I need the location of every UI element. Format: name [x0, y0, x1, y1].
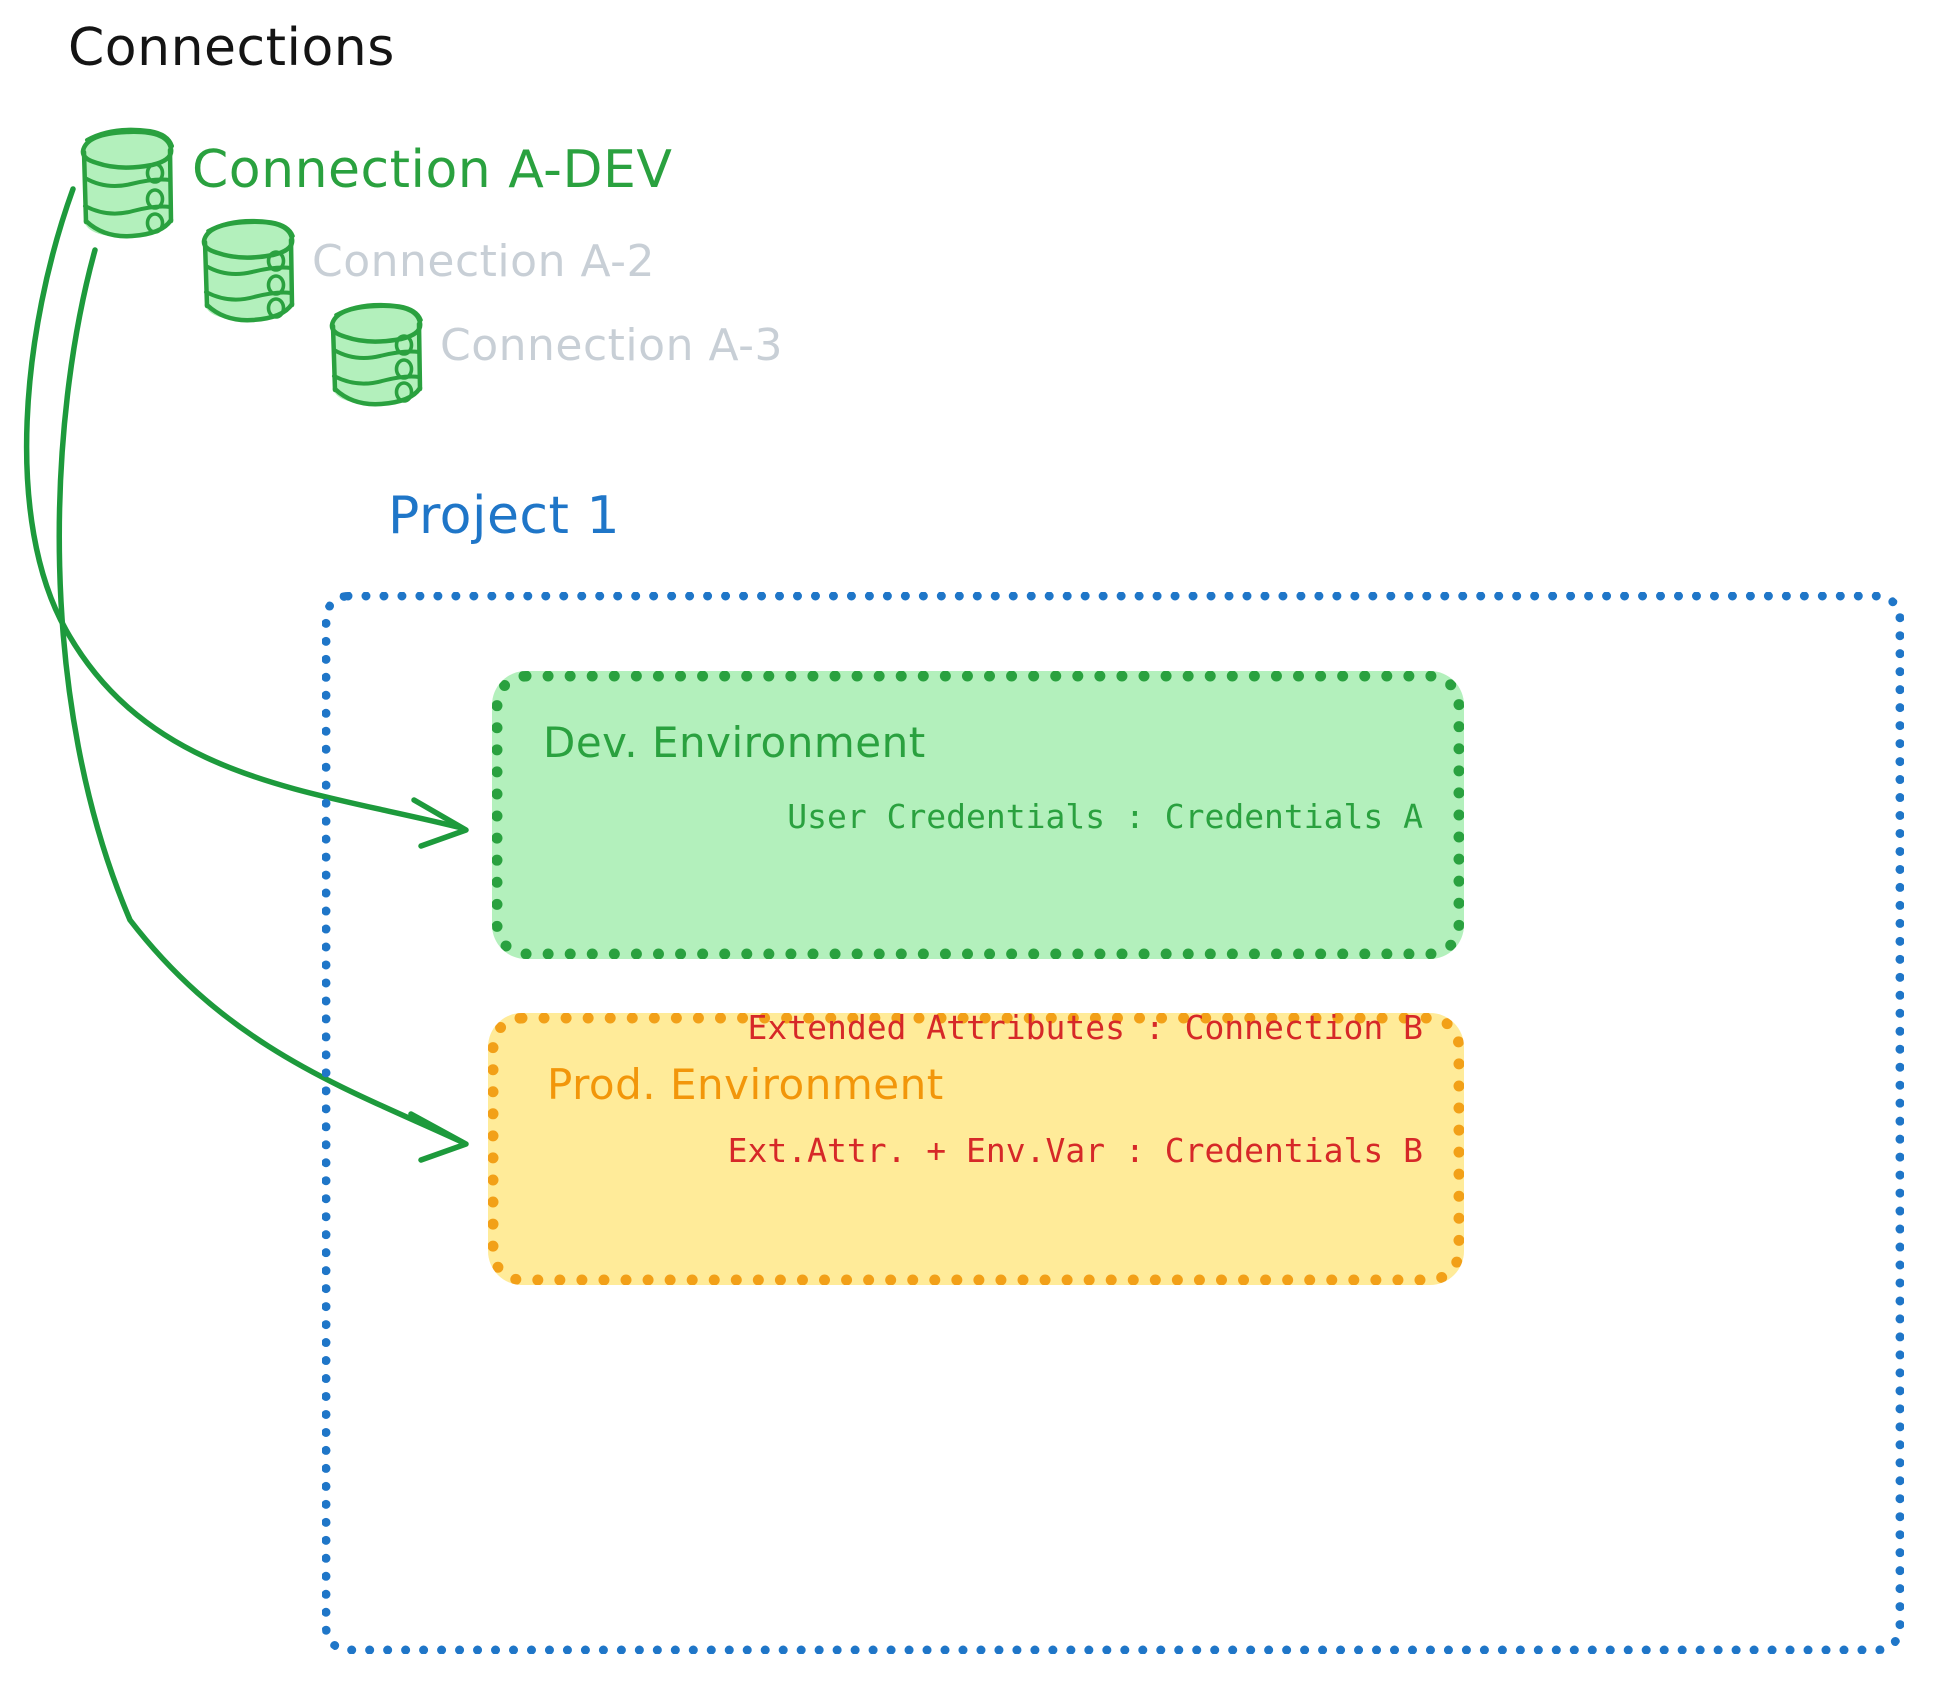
connection-label-a-2[interactable]: Connection A-2 [312, 236, 655, 287]
database-cylinder-icon-1[interactable] [83, 130, 172, 237]
database-cylinder-icon-3[interactable] [332, 305, 421, 405]
diagram-canvas: Connections Connection A-DEV Connection … [0, 0, 1938, 1691]
prod-attribute-line-1: Extended Attributes : Connection B [728, 1007, 1423, 1048]
prod-environment-card[interactable]: Prod. Environment Extended Attributes : … [488, 1013, 1464, 1285]
page-title: Connections [68, 18, 395, 78]
prod-environment-attributes: Extended Attributes : Connection B Ext.A… [728, 924, 1423, 1254]
dev-attribute-line: User Credentials : Credentials A [787, 796, 1423, 837]
database-cylinder-icon-2[interactable] [204, 221, 293, 321]
connection-label-a-3[interactable]: Connection A-3 [440, 320, 783, 371]
prod-attribute-line-2: Ext.Attr. + Env.Var : Credentials B [728, 1130, 1423, 1171]
project-title: Project 1 [388, 486, 620, 546]
dev-environment-card[interactable]: Dev. Environment User Credentials : Cred… [492, 671, 1464, 959]
dev-environment-attributes: User Credentials : Credentials A [787, 714, 1423, 920]
connection-label-a-dev[interactable]: Connection A-DEV [192, 140, 672, 200]
